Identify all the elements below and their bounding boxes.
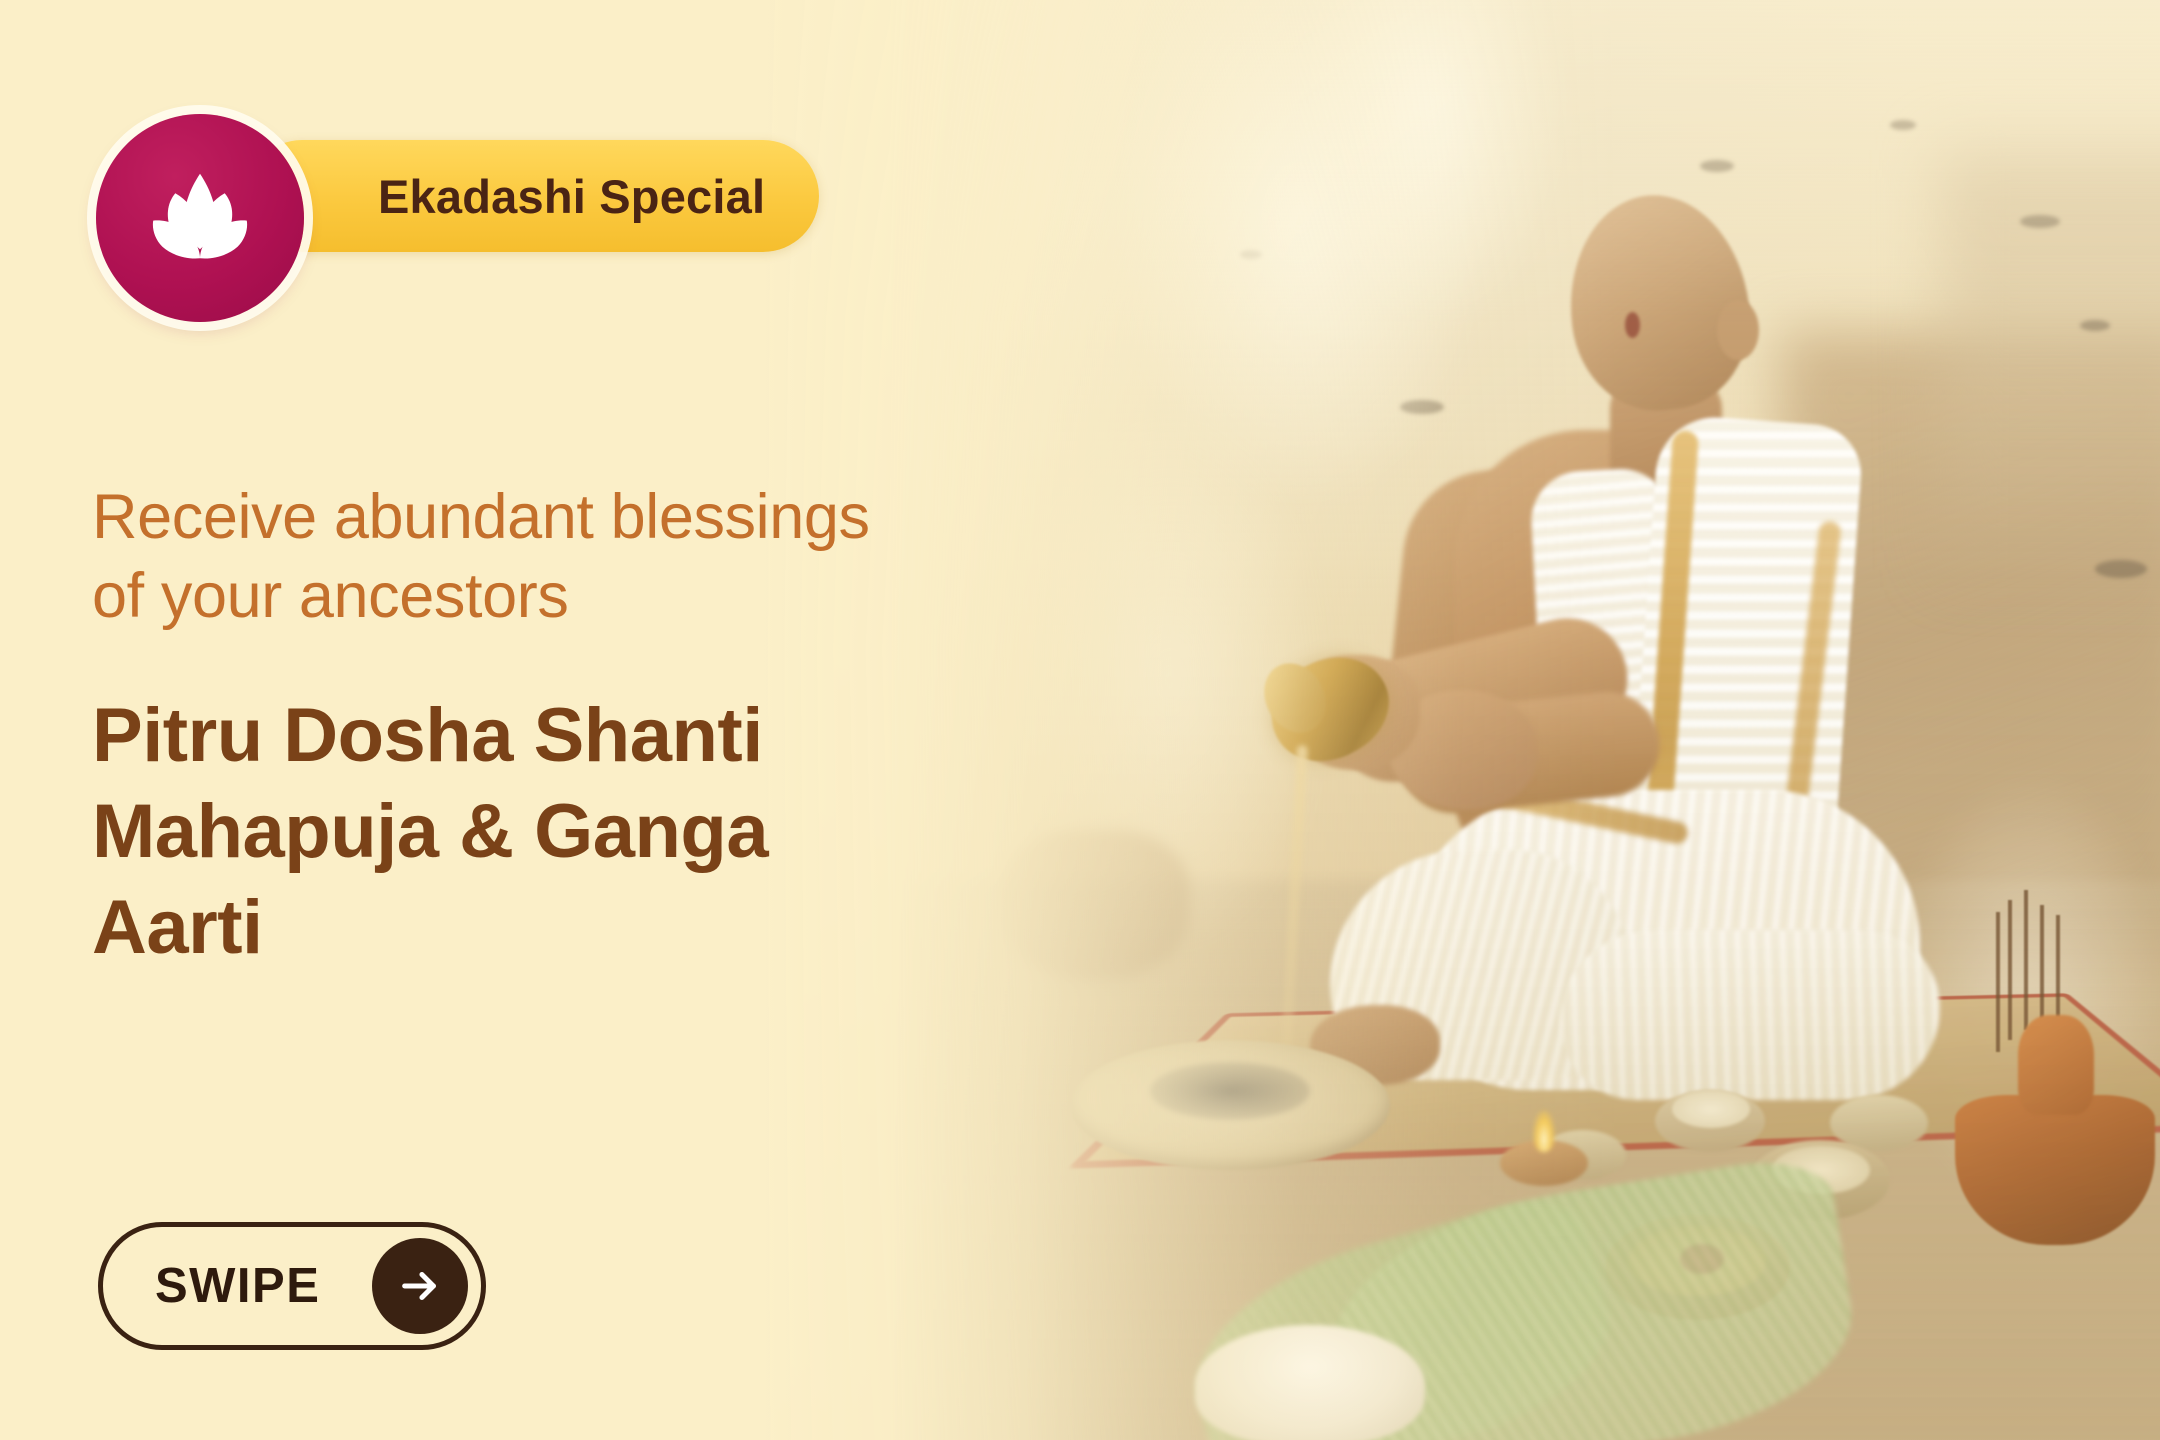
subheading-line-1: Receive abundant blessings — [92, 478, 1122, 557]
page-title: Pitru Dosha Shanti Mahapuja & Ganga Aart… — [92, 688, 1072, 975]
swipe-button[interactable]: SWIPE — [98, 1222, 486, 1350]
title-line-1: Pitru Dosha Shanti — [92, 688, 1072, 784]
badge-pill: Ekadashi Special — [246, 140, 819, 252]
lotus-icon — [96, 114, 304, 322]
promo-card: Ekadashi Special Receive abundant blessi… — [0, 0, 2160, 1440]
title-line-3: Aarti — [92, 880, 1072, 976]
subheading-line-2: of your ancestors — [92, 557, 1122, 636]
card-content: Ekadashi Special Receive abundant blessi… — [0, 0, 2160, 1440]
title-line-2: Mahapuja & Ganga — [92, 784, 1072, 880]
subheading: Receive abundant blessings of your ances… — [92, 478, 1122, 637]
arrow-right-icon[interactable] — [372, 1238, 468, 1334]
badge-label: Ekadashi Special — [378, 169, 765, 224]
swipe-label: SWIPE — [155, 1258, 320, 1314]
